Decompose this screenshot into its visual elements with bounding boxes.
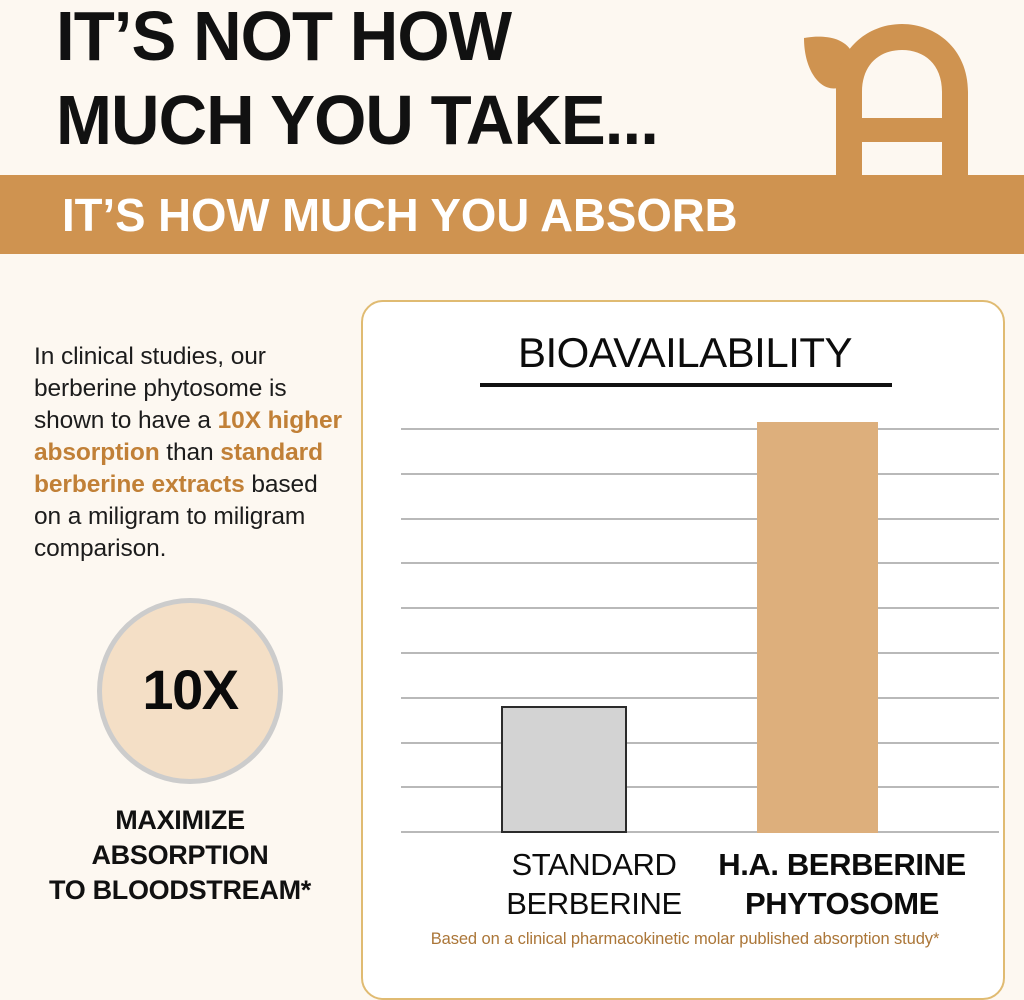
gridline	[401, 742, 999, 744]
leaf-a-logo	[790, 8, 970, 180]
gridline	[401, 562, 999, 564]
headline-line-2: MUCH YOU TAKE...	[56, 81, 658, 159]
category-label-standard-berberine: STANDARD BERBERINE	[461, 845, 727, 923]
ten-x-badge: 10X	[97, 598, 283, 784]
page-title: IT’S NOT HOWMUCH YOU TAKE...	[56, 0, 658, 162]
gridline	[401, 518, 999, 520]
bioavailability-chart-card: BIOAVAILABILITY STANDARD BERBERINE H.A. …	[361, 300, 1005, 1000]
category-label-ha-berberine-phytosome: H.A. BERBERINE PHYTOSOME	[708, 845, 976, 923]
gridline	[401, 652, 999, 654]
gridline	[401, 697, 999, 699]
header: IT’S NOT HOWMUCH YOU TAKE...	[0, 0, 1024, 175]
gridline	[401, 831, 999, 833]
left-panel: In clinical studies, our berberine phyto…	[0, 254, 360, 967]
gridline	[401, 428, 999, 430]
intro-paragraph: In clinical studies, our berberine phyto…	[34, 341, 346, 565]
gridline	[401, 607, 999, 609]
bar-ha-berberine-phytosome	[757, 422, 878, 833]
chart-plot-area	[401, 428, 999, 833]
gridline	[401, 786, 999, 788]
ten-x-badge-value: 10X	[142, 662, 237, 718]
headline-line-1: IT’S NOT HOW	[56, 0, 511, 75]
chart-title: BIOAVAILABILITY	[363, 329, 1007, 377]
subheadline-text: IT’S HOW MUCH YOU ABSORB	[62, 192, 738, 238]
badge-caption: MAXIMIZE ABSORPTION TO BLOODSTREAM*	[0, 803, 360, 908]
chart-title-underline	[480, 383, 892, 387]
intro-part-2: than	[160, 439, 221, 466]
chart-category-labels: STANDARD BERBERINE H.A. BERBERINE PHYTOS…	[363, 845, 1007, 931]
subheadline-band: IT’S HOW MUCH YOU ABSORB	[0, 175, 1024, 254]
chart-footnote: Based on a clinical pharmacokinetic mola…	[363, 930, 1007, 949]
gridline	[401, 473, 999, 475]
bar-standard-berberine	[501, 706, 627, 833]
